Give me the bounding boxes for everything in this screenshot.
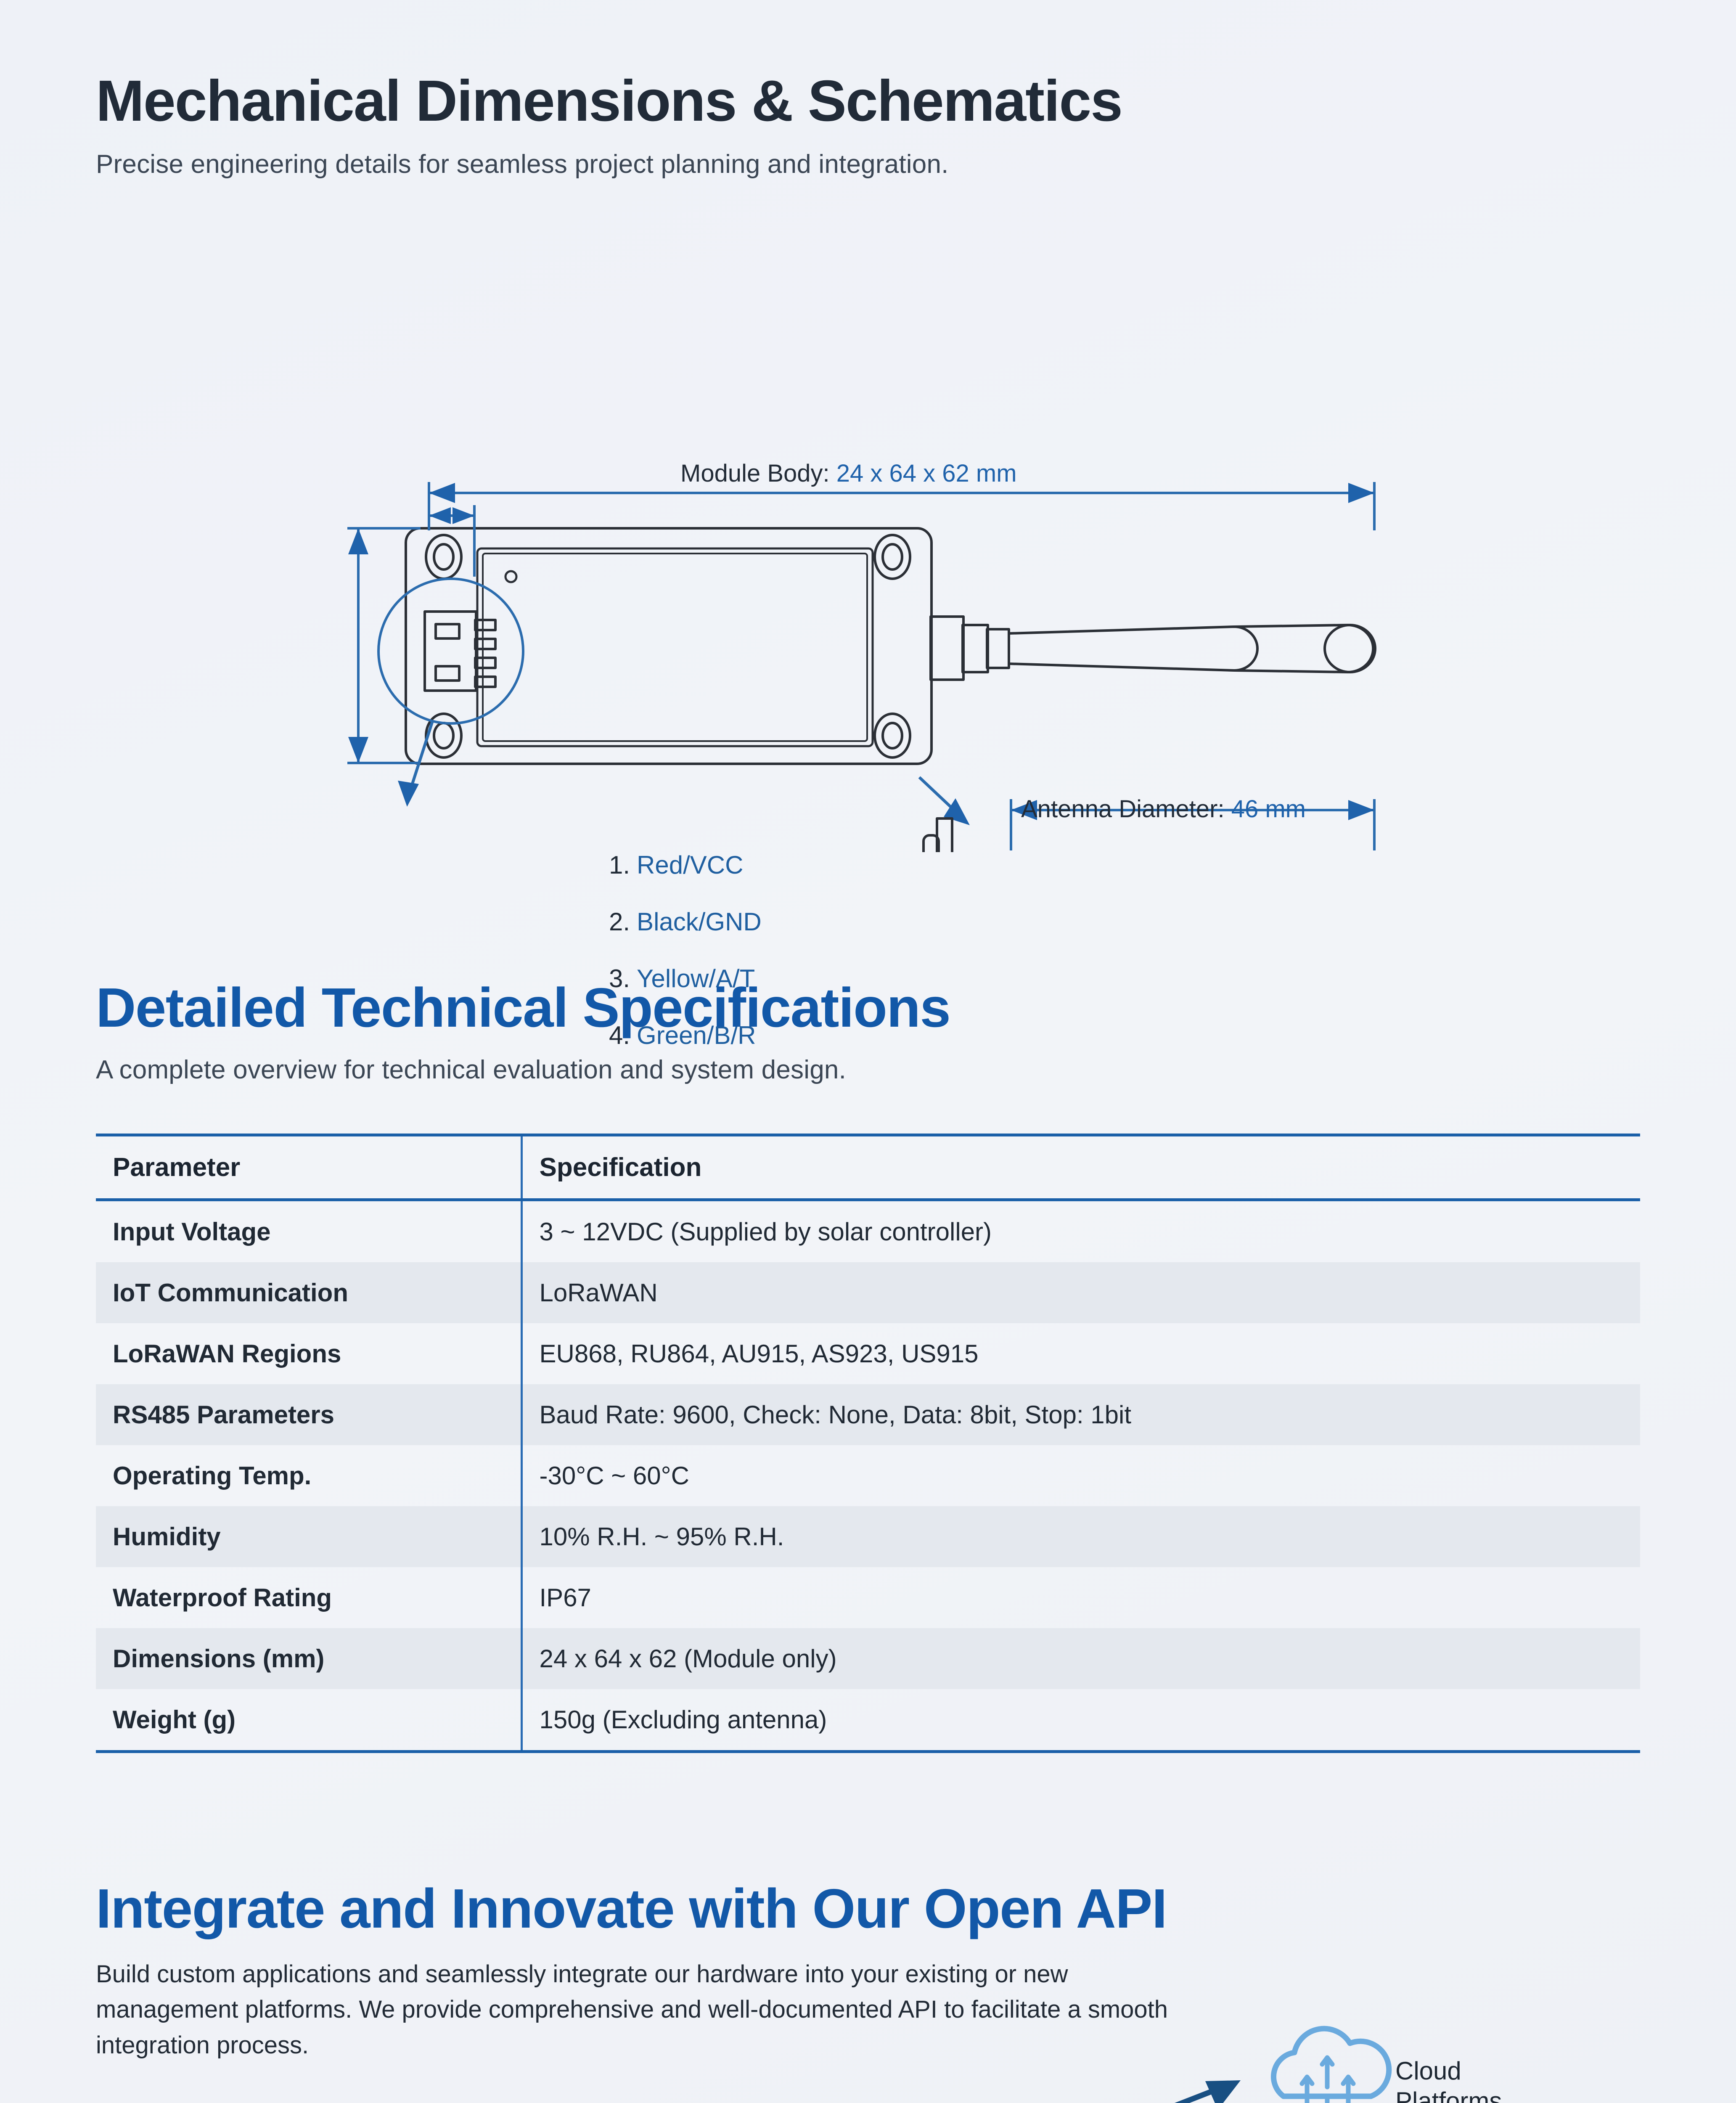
cell-specification: 150g (Excluding antenna) [521,1689,1640,1752]
cell-specification: 10% R.H. ~ 95% R.H. [521,1506,1640,1567]
cell-parameter: IoT Communication [96,1262,521,1323]
antenna-dimension-value: 46 mm [1231,795,1306,823]
cell-parameter: Input Voltage [96,1200,521,1262]
mechanical-schematics-section: Mechanical Dimensions & Schematics Preci… [0,0,1736,179]
cell-parameter: Weight (g) [96,1689,521,1752]
antenna-dimension-key: Antenna Diameter: [1021,795,1225,823]
column-header-parameter: Parameter [96,1135,521,1200]
cell-parameter: Waterproof Rating [96,1567,521,1628]
column-header-specification: Specification [521,1135,1640,1200]
antenna-dimension-label: Antenna Diameter: 46 mm [1021,795,1306,823]
cell-specification: -30°C ~ 60°C [521,1445,1640,1506]
table-row: Input Voltage 3 ~ 12VDC (Supplied by sol… [96,1200,1640,1262]
api-title: Integrate and Innovate with Our Open API [96,1879,1640,1938]
table-row: Waterproof Rating IP67 [96,1567,1640,1628]
cell-specification: Baud Rate: 9600, Check: None, Data: 8bit… [521,1384,1640,1445]
target-label-cloud-platforms: Cloud Platforms [1395,2056,1502,2103]
cell-parameter: Dimensions (mm) [96,1628,521,1689]
module-dimension-value: 24 x 64 x 62 mm [836,460,1017,487]
cell-specification: LoRaWAN [521,1262,1640,1323]
specs-title: Detailed Technical Specifications [96,978,1640,1037]
table-row: Humidity 10% R.H. ~ 95% R.H. [96,1506,1640,1567]
table-row: Operating Temp. -30°C ~ 60°C [96,1445,1640,1506]
api-integration-diagram: SWIOTT API API API Cloud Platforms Analy… [0,1984,1736,2103]
target-line-2: Platforms [1395,2086,1502,2103]
cloud-icon [1273,2029,1389,2103]
cell-specification: IP67 [521,1567,1640,1628]
specs-subtitle: A complete overview for technical evalua… [96,1055,1640,1085]
cell-specification: 3 ~ 12VDC (Supplied by solar controller) [521,1200,1640,1262]
cell-specification: 24 x 64 x 62 (Module only) [521,1628,1640,1689]
table-row: LoRaWAN Regions EU868, RU864, AU915, AS9… [96,1323,1640,1384]
cell-parameter: RS485 Parameters [96,1384,521,1445]
table-row: IoT Communication LoRaWAN [96,1262,1640,1323]
specifications-table: Parameter Specification Input Voltage 3 … [96,1134,1640,1753]
target-line-1: Cloud [1395,2056,1502,2086]
cell-parameter: Humidity [96,1506,521,1567]
page-title: Mechanical Dimensions & Schematics [96,71,1640,132]
table-row: Dimensions (mm) 24 x 64 x 62 (Module onl… [96,1628,1640,1689]
table-header-row: Parameter Specification [96,1135,1640,1200]
module-dimension-key: Module Body: [680,460,830,487]
table-row: Weight (g) 150g (Excluding antenna) [96,1689,1640,1752]
cell-parameter: LoRaWAN Regions [96,1323,521,1384]
module-dimension-label: Module Body: 24 x 64 x 62 mm [680,459,1017,487]
schematic-drawing: 1. 2. 3. 4. Module Body: 24 [0,196,1736,852]
cell-parameter: Operating Temp. [96,1445,521,1506]
cell-specification: EU868, RU864, AU915, AS923, US915 [521,1323,1640,1384]
schematic-svg: 1. 2. 3. 4. [0,196,1736,852]
table-row: RS485 Parameters Baud Rate: 9600, Check:… [96,1384,1640,1445]
technical-specifications-section: Detailed Technical Specifications A comp… [0,852,1736,1753]
page-subtitle: Precise engineering details for seamless… [96,149,1640,179]
